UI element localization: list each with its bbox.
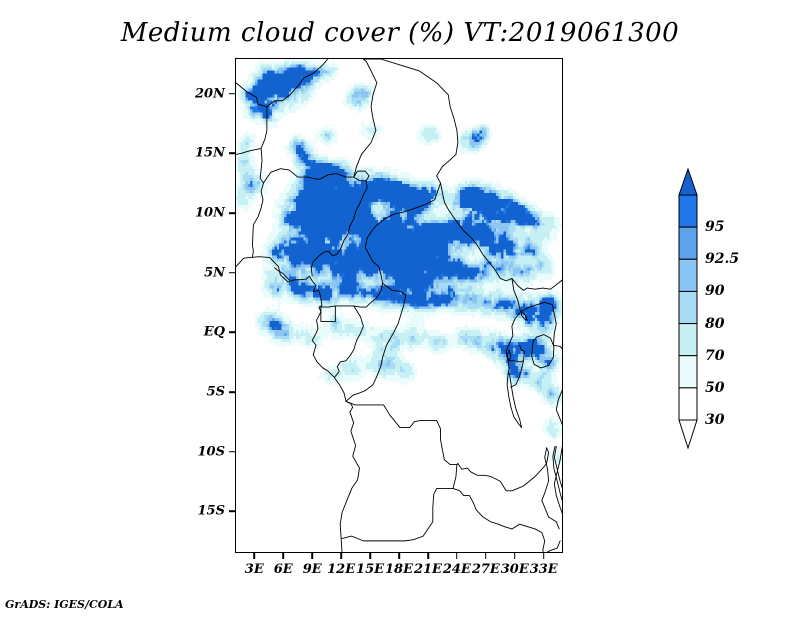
lat-tick [229,510,235,512]
map-plot-area: 20N15N10N5NEQ5S10S15S 3E6E9E12E15E18E21E… [235,58,563,553]
geo-line [556,383,563,428]
geo-line [346,283,406,401]
geo-line [507,374,521,428]
geo-line [321,306,354,307]
lat-label: EQ [187,325,225,340]
colorbar-tick-label: 92.5 [705,251,739,267]
lat-tick [229,451,235,453]
geo-line [371,183,440,232]
page-title: Medium cloud cover (%) VT:2019061300 [0,18,800,48]
lon-tick [456,553,458,559]
colorbar-swatches [668,165,708,455]
geo-line [363,59,458,154]
geo-line [522,312,528,320]
lat-label: 5S [187,384,225,399]
lat-label: 20N [187,86,225,101]
colorbar-tick-label: 80 [705,316,724,332]
geo-line [342,465,457,541]
geo-line [464,231,528,291]
lon-label: 18E [385,562,413,577]
lon-label: 15E [356,562,384,577]
lon-tick [369,553,371,559]
geo-line [267,59,328,107]
lon-tick [398,553,400,559]
lon-label: 27E [472,562,500,577]
colorbar: 9592.59080705030 [668,165,798,455]
colorbar-tick-label: 95 [705,219,724,235]
lon-tick [253,553,255,559]
colorbar-bottom-arrow [679,420,697,448]
geo-line [532,335,554,368]
colorbar-tick-label: 90 [705,283,724,299]
geo-line [437,154,464,230]
lat-label: 5N [187,265,225,280]
geo-line [236,257,359,553]
lon-tick [282,553,284,559]
colorbar-segment [679,324,697,356]
map-boundaries [236,59,563,553]
lat-label: 15S [187,504,225,519]
colorbar-segment [679,291,697,323]
lon-label: 21E [414,562,442,577]
geo-line [553,345,563,351]
lon-tick [514,553,516,559]
lat-tick [229,391,235,393]
colorbar-segment [679,195,697,227]
lon-label: 33E [530,562,558,577]
lat-tick [229,272,235,274]
colorbar-segment [679,356,697,388]
lon-tick [543,553,545,559]
lon-tick [311,553,313,559]
lat-label: 10N [187,206,225,221]
lat-label: 10S [187,444,225,459]
lon-label: 12E [327,562,355,577]
geo-line [252,148,263,257]
lon-tick [427,553,429,559]
geo-line [509,345,524,362]
colorbar-tick-label: 50 [705,380,724,396]
colorbar-tick-label: 70 [705,348,724,364]
lon-tick [340,553,342,559]
geo-line [553,447,563,505]
lat-tick [229,153,235,155]
lon-label: 9E [303,562,322,577]
lat-tick [229,212,235,214]
geo-line [354,171,369,181]
geo-line [554,438,563,553]
grads-plot-page: Medium cloud cover (%) VT:2019061300 20N… [0,0,800,618]
geo-line [275,268,290,281]
geo-line [321,306,335,322]
colorbar-segment [679,259,697,291]
map-frame [235,58,563,553]
geo-line [236,83,267,155]
geo-line [334,306,363,378]
geo-line [354,232,383,307]
lon-tick [485,553,487,559]
geo-line [542,448,559,529]
geo-line [544,541,560,553]
geo-line [453,488,545,553]
lon-label: 6E [274,562,293,577]
geo-line [354,59,377,177]
coastlines-and-borders [236,59,563,553]
lon-label: 24E [443,562,471,577]
colorbar-top-arrow [679,169,697,195]
lon-label: 30E [501,562,529,577]
colorbar-segment [679,227,697,259]
lat-tick [229,93,235,95]
colorbar-tick-label: 30 [705,412,724,428]
geo-line [527,278,563,289]
lon-label: 3E [245,562,264,577]
geo-line [263,169,353,183]
lat-label: 15N [187,146,225,161]
geo-line [511,361,524,387]
credit-text: GrADS: IGES/COLA [5,598,124,611]
colorbar-segment [679,388,697,420]
lat-tick [229,332,235,334]
geo-line [311,181,367,276]
